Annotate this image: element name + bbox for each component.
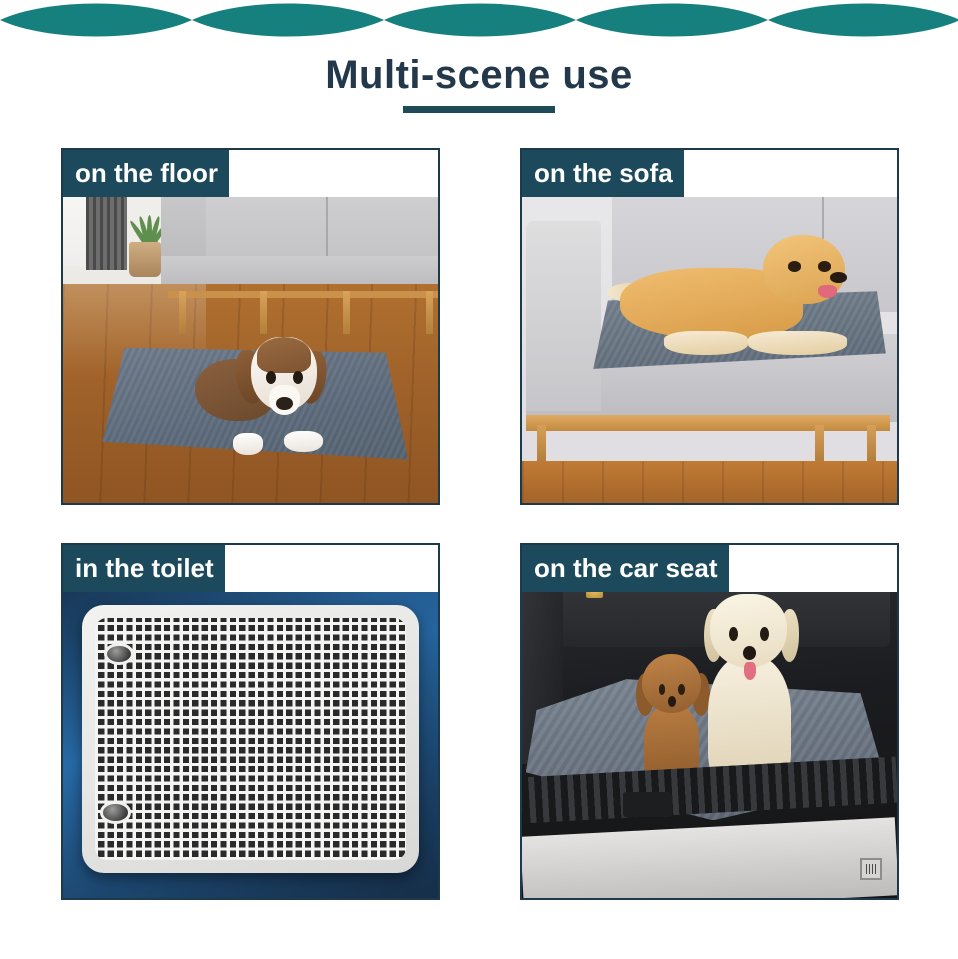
panel-label-bar-car-seat: on the car seat	[522, 545, 897, 592]
sofa-wooden-legs	[168, 291, 438, 333]
panel-label-car-seat: on the car seat	[522, 545, 729, 592]
tray-drain-hole	[104, 643, 134, 666]
scene-sofa-illustration	[522, 150, 897, 503]
panel-label-filler	[225, 545, 438, 592]
plant-pot	[129, 242, 161, 277]
scene-toilet-illustration	[63, 545, 438, 898]
watermark-logo-icon	[860, 858, 882, 880]
panel-in-the-toilet[interactable]: in the toilet	[61, 543, 440, 900]
panel-label-bar-toilet: in the toilet	[63, 545, 438, 592]
panel-label-floor: on the floor	[63, 150, 229, 197]
panel-label-sofa: on the sofa	[522, 150, 684, 197]
trunk-latch	[623, 792, 672, 817]
scene-floor-illustration	[63, 150, 438, 503]
scene-car-seat-illustration	[522, 545, 897, 898]
wave-svg	[0, 0, 958, 40]
panel-on-the-floor[interactable]: on the floor	[61, 148, 440, 505]
tray-drain-hole	[100, 801, 130, 824]
panel-label-filler	[684, 150, 897, 197]
panel-on-the-sofa[interactable]: on the sofa	[520, 148, 899, 505]
title-underline	[403, 106, 555, 113]
hardwood-floor	[522, 461, 897, 503]
panel-label-filler	[229, 150, 438, 197]
product-feature-page: Multi-scene use	[0, 0, 958, 959]
golden-retriever-dog	[620, 235, 868, 355]
panel-label-bar-floor: on the floor	[63, 150, 438, 197]
page-title-block: Multi-scene use	[0, 52, 958, 113]
header-wave-decoration	[0, 0, 958, 40]
pet-toilet-tray-product	[82, 605, 420, 873]
sofa-armrest	[526, 221, 601, 412]
tray-grid-mesh	[95, 618, 406, 859]
sofa-wooden-frame	[526, 415, 890, 431]
scene-panel-grid: on the floor	[61, 148, 899, 900]
panel-label-toilet: in the toilet	[63, 545, 225, 592]
panel-label-filler	[729, 545, 897, 592]
beagle-dog	[191, 337, 341, 457]
panel-on-the-car-seat[interactable]: on the car seat	[520, 543, 899, 900]
page-title: Multi-scene use	[0, 52, 958, 98]
panel-label-bar-sofa: on the sofa	[522, 150, 897, 197]
